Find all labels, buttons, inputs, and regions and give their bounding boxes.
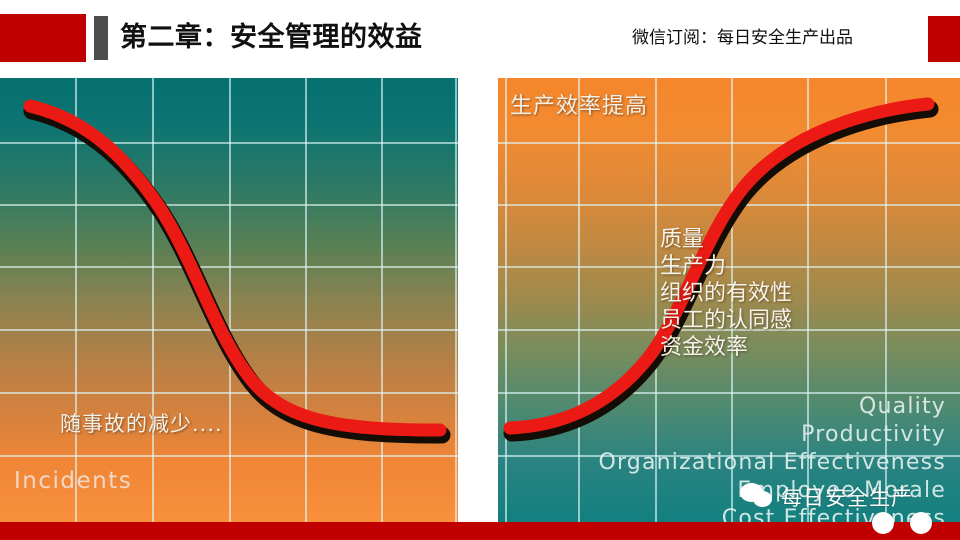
footer-dot xyxy=(910,512,932,534)
header-red-block-right xyxy=(928,16,960,62)
header-gray-bar xyxy=(94,16,108,60)
slide-root: 第二章：安全管理的效益 微信订阅：每日安全生产出品 随事故的减少.... Inc… xyxy=(0,0,960,540)
benefit-cn-item: 组织的有效性 xyxy=(660,280,792,307)
benefit-cn-item: 质量 xyxy=(660,226,792,253)
gridline-horizontal xyxy=(0,266,458,268)
gridline-horizontal xyxy=(498,204,960,206)
right-chart-chinese-benefits: 质量 生产力 组织的有效性 员工的认同感 资金效率 xyxy=(660,226,792,361)
slide-header: 第二章：安全管理的效益 微信订阅：每日安全生产出品 xyxy=(0,0,960,78)
header-red-block-left xyxy=(0,14,86,62)
chart-benefits: 生产效率提高 质量 生产力 组织的有效性 员工的认同感 资金效率 Quality… xyxy=(498,78,960,522)
benefit-cn-item: 资金效率 xyxy=(660,334,792,361)
benefit-cn-item: 员工的认同感 xyxy=(660,307,792,334)
watermark-label: 每日安全生产 xyxy=(781,482,913,512)
gridline-horizontal xyxy=(498,142,960,144)
page-title: 第二章：安全管理的效益 xyxy=(120,17,423,59)
benefit-cn-item: 生产力 xyxy=(660,253,792,280)
right-chart-title: 生产效率提高 xyxy=(510,88,648,120)
gridline-horizontal xyxy=(0,204,458,206)
gridline-horizontal xyxy=(0,455,458,457)
benefit-en-item: Organizational Effectiveness xyxy=(598,449,946,477)
wechat-watermark: 每日安全生产 xyxy=(740,482,913,512)
gridline-horizontal xyxy=(0,329,458,331)
wechat-icon xyxy=(740,483,774,511)
wechat-bubble-small xyxy=(753,491,772,507)
header-subscription-text: 微信订阅：每日安全生产出品 xyxy=(632,26,853,50)
footer-red-bar xyxy=(0,522,960,540)
footer-dot xyxy=(872,512,894,534)
gridline-horizontal xyxy=(0,392,458,394)
incidents-axis-label: Incidents xyxy=(14,468,132,494)
benefit-en-item: Quality xyxy=(598,393,946,421)
gridline-horizontal xyxy=(0,142,458,144)
benefit-en-item: Productivity xyxy=(598,421,946,449)
left-chart-note: 随事故的减少.... xyxy=(60,408,223,438)
chart-incidents: 随事故的减少.... Incidents xyxy=(0,78,458,522)
